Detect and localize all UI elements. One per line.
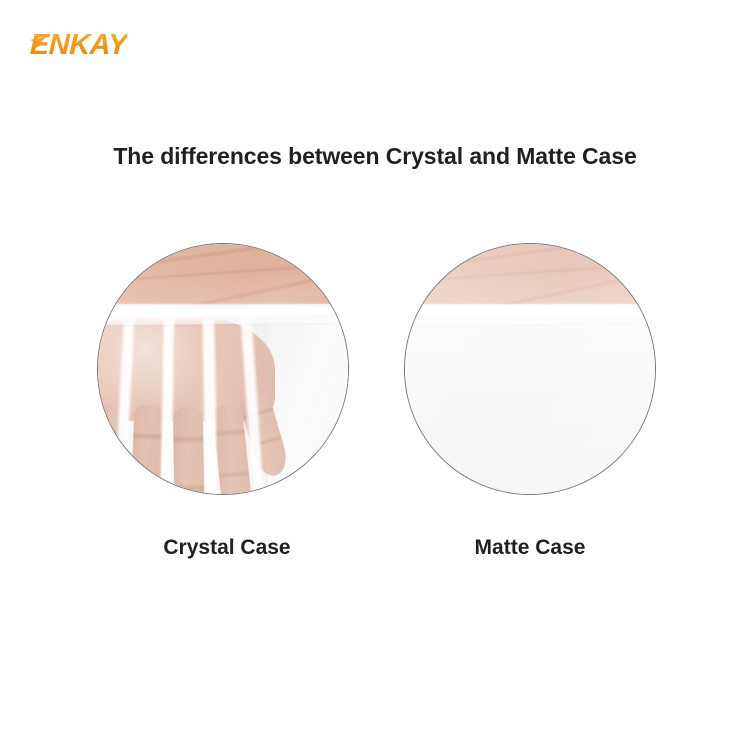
sharp-layer: [405, 244, 655, 494]
page-title: The differences between Crystal and Matt…: [0, 143, 750, 170]
photo-stage-crystal: [98, 244, 348, 494]
case-top-edge: [97, 304, 349, 326]
bare-hand-strip: [404, 243, 656, 304]
comparison-image-crystal: [97, 243, 349, 495]
comparison-image-matte: [404, 243, 656, 495]
photo-stage-matte: [405, 244, 655, 494]
caption-crystal: Crystal Case: [77, 536, 377, 560]
comparison-row: [0, 243, 750, 498]
case-top-edge: [404, 304, 656, 326]
bare-hand-strip: [97, 243, 349, 304]
sharp-layer: [98, 244, 348, 494]
brand-logo: ENKAY: [30, 28, 230, 62]
brand-name: ENKAY: [29, 28, 127, 62]
caption-matte: Matte Case: [380, 536, 680, 560]
